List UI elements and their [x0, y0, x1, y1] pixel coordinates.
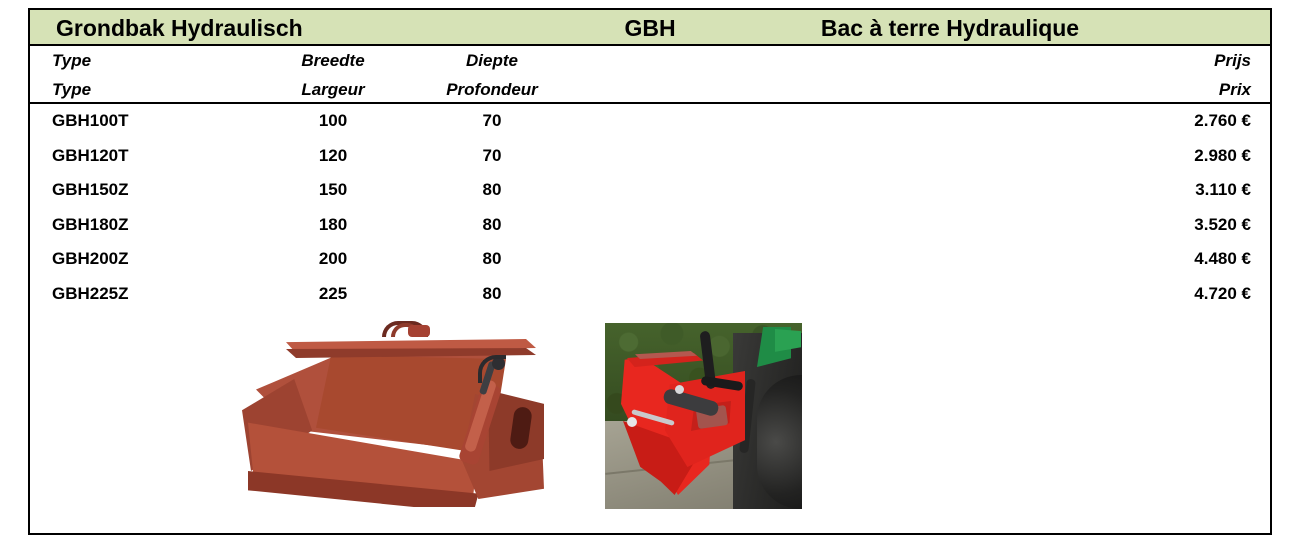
column-header-depth-fr: Profondeur [402, 75, 582, 104]
cell-type: GBH200Z [52, 242, 129, 277]
product-photo-area [30, 311, 1270, 531]
column-header-type-nl: Type [52, 46, 91, 75]
column-header-depth-nl: Diepte [402, 46, 582, 75]
cell-depth: 80 [402, 277, 582, 312]
cell-price: 4.720 € [1194, 277, 1251, 312]
cell-width: 180 [240, 208, 426, 243]
cell-price: 4.480 € [1194, 242, 1251, 277]
cell-depth: 80 [402, 242, 582, 277]
product-photo-on-tractor [605, 323, 802, 509]
table-body: GBH100T 100 70 2.760 € GBH120T 120 70 2.… [30, 104, 1270, 311]
title-band: Grondbak Hydraulisch GBH Bac à terre Hyd… [30, 10, 1270, 46]
column-header-type-fr: Type [52, 75, 91, 104]
column-header-width-fr: Largeur [240, 75, 426, 104]
cell-depth: 80 [402, 173, 582, 208]
cell-depth: 70 [402, 139, 582, 174]
product-photo-studio [230, 321, 548, 507]
cell-width: 120 [240, 139, 426, 174]
table-row: GBH225Z 225 80 4.720 € [30, 277, 1270, 312]
table-row: GBH180Z 180 80 3.520 € [30, 208, 1270, 243]
cell-width: 150 [240, 173, 426, 208]
cell-type: GBH120T [52, 139, 129, 174]
column-header-width-nl: Breedte [240, 46, 426, 75]
column-header-price-nl: Prijs [1214, 46, 1251, 75]
cylinder-pivot-pin [675, 385, 684, 394]
column-header-row-french: Type Largeur Profondeur Prix [30, 75, 1270, 104]
page-root: Grondbak Hydraulisch GBH Bac à terre Hyd… [0, 0, 1296, 549]
cell-price: 2.760 € [1194, 104, 1251, 139]
table-row: GBH200Z 200 80 4.480 € [30, 242, 1270, 277]
cell-depth: 70 [402, 104, 582, 139]
column-header-row-dutch: Type Breedte Diepte Prijs [30, 46, 1270, 75]
cell-depth: 80 [402, 208, 582, 243]
cell-width: 225 [240, 277, 426, 312]
cell-price: 3.520 € [1194, 208, 1251, 243]
column-header-price-fr: Prix [1219, 75, 1251, 104]
cell-type: GBH100T [52, 104, 129, 139]
cell-type: GBH225Z [52, 277, 129, 312]
hose-fitting [408, 325, 430, 337]
table-row: GBH100T 100 70 2.760 € [30, 104, 1270, 139]
cell-price: 2.980 € [1194, 139, 1251, 174]
cell-type: GBH150Z [52, 173, 129, 208]
cell-width: 100 [240, 104, 426, 139]
rod-end-pin [627, 417, 637, 427]
cell-width: 200 [240, 242, 426, 277]
cell-price: 3.110 € [1195, 173, 1251, 208]
cell-type: GBH180Z [52, 208, 129, 243]
tractor-rear-tyre [757, 375, 802, 509]
column-header-group: Type Breedte Diepte Prijs Type Largeur P… [30, 46, 1270, 104]
price-table: Grondbak Hydraulisch GBH Bac à terre Hyd… [28, 8, 1272, 535]
table-row: GBH120T 120 70 2.980 € [30, 139, 1270, 174]
title-french: Bac à terre Hydraulique [30, 10, 1270, 46]
table-row: GBH150Z 150 80 3.110 € [30, 173, 1270, 208]
